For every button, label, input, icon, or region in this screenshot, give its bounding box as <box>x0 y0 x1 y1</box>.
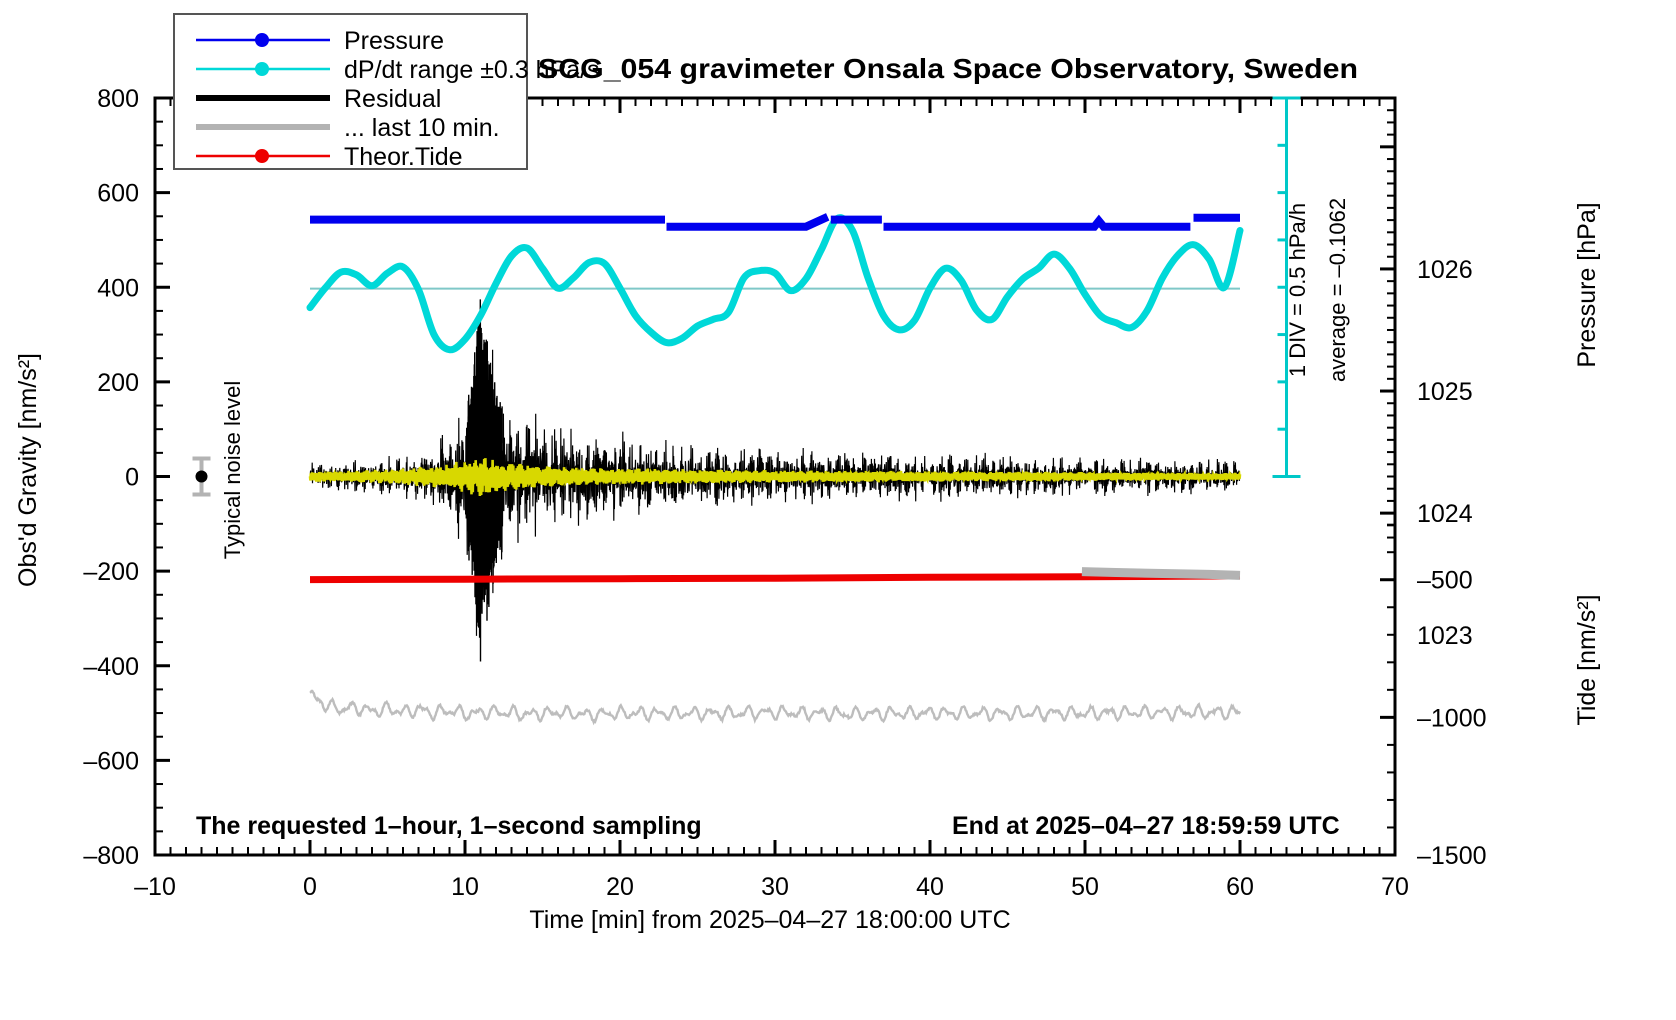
x-tick-label: 20 <box>606 873 634 901</box>
trace-last-10-min <box>1082 572 1240 576</box>
x-tick-label: 40 <box>916 873 944 901</box>
x-tick-label: 30 <box>761 873 789 901</box>
legend-swatch-dot <box>255 149 269 163</box>
legend-item-label: Pressure <box>344 27 444 55</box>
gravimeter-chart: –10010203040506070 –800–600–400–20002004… <box>0 0 1676 1020</box>
sampling-annotation: The requested 1–hour, 1–second sampling <box>196 812 702 840</box>
pressure-tick-label: 1023 <box>1417 622 1473 650</box>
y-tick-label: 400 <box>97 274 139 302</box>
end-time-annotation: End at 2025–04–27 18:59:59 UTC <box>952 812 1340 840</box>
tide-tick-label: –500 <box>1417 567 1473 595</box>
y-axis-left-title: Obs'd Gravity [nm/s²] <box>14 353 42 587</box>
x-tick-label: 50 <box>1071 873 1099 901</box>
legend-item-label: dP/dt range ±0.3 hPa/s <box>344 56 600 84</box>
tide-tick-label: –1000 <box>1417 704 1487 732</box>
div-scale-annotation: 1 DIV = 0.5 hPa/h <box>1285 203 1310 377</box>
page-title: SCG_054 gravimeter Onsala Space Observat… <box>538 53 1358 84</box>
legend-item-label: Theor.Tide <box>344 143 463 171</box>
y-tick-label: –600 <box>83 747 139 775</box>
x-tick-label: 10 <box>451 873 479 901</box>
y-axis-tide-title: Tide [nm/s²] <box>1573 594 1601 725</box>
y-tick-label: –200 <box>83 558 139 586</box>
pressure-tick-label: 1025 <box>1417 378 1473 406</box>
legend-item-label: Residual <box>344 85 441 113</box>
y-tick-label: –800 <box>83 842 139 870</box>
noise-level-annotation: Typical noise level <box>220 381 245 560</box>
x-tick-label: –10 <box>134 873 176 901</box>
pressure-tick-label: 1024 <box>1417 500 1473 528</box>
y-axis-pressure-title: Pressure [hPa] <box>1573 202 1601 367</box>
y-tick-label: 200 <box>97 369 139 397</box>
x-tick-label: 0 <box>303 873 317 901</box>
x-tick-label: 70 <box>1381 873 1409 901</box>
x-axis-title: Time [min] from 2025–04–27 18:00:00 UTC <box>529 906 1010 934</box>
legend-swatch-dot <box>255 62 269 76</box>
y-tick-label: –400 <box>83 653 139 681</box>
pressure-tick-label: 1026 <box>1417 256 1473 284</box>
y-tick-label: 600 <box>97 180 139 208</box>
y-tick-label: 0 <box>125 464 139 492</box>
average-annotation: average = –0.1062 <box>1325 198 1350 382</box>
chart-page: –10010203040506070 –800–600–400–20002004… <box>0 0 1676 1020</box>
legend-item-label: ... last 10 min. <box>344 114 500 142</box>
tide-tick-label: –1500 <box>1417 842 1487 870</box>
noise-marker-dot <box>196 471 208 483</box>
x-tick-label: 60 <box>1226 873 1254 901</box>
y-tick-label: 800 <box>97 85 139 113</box>
legend-swatch-dot <box>255 33 269 47</box>
